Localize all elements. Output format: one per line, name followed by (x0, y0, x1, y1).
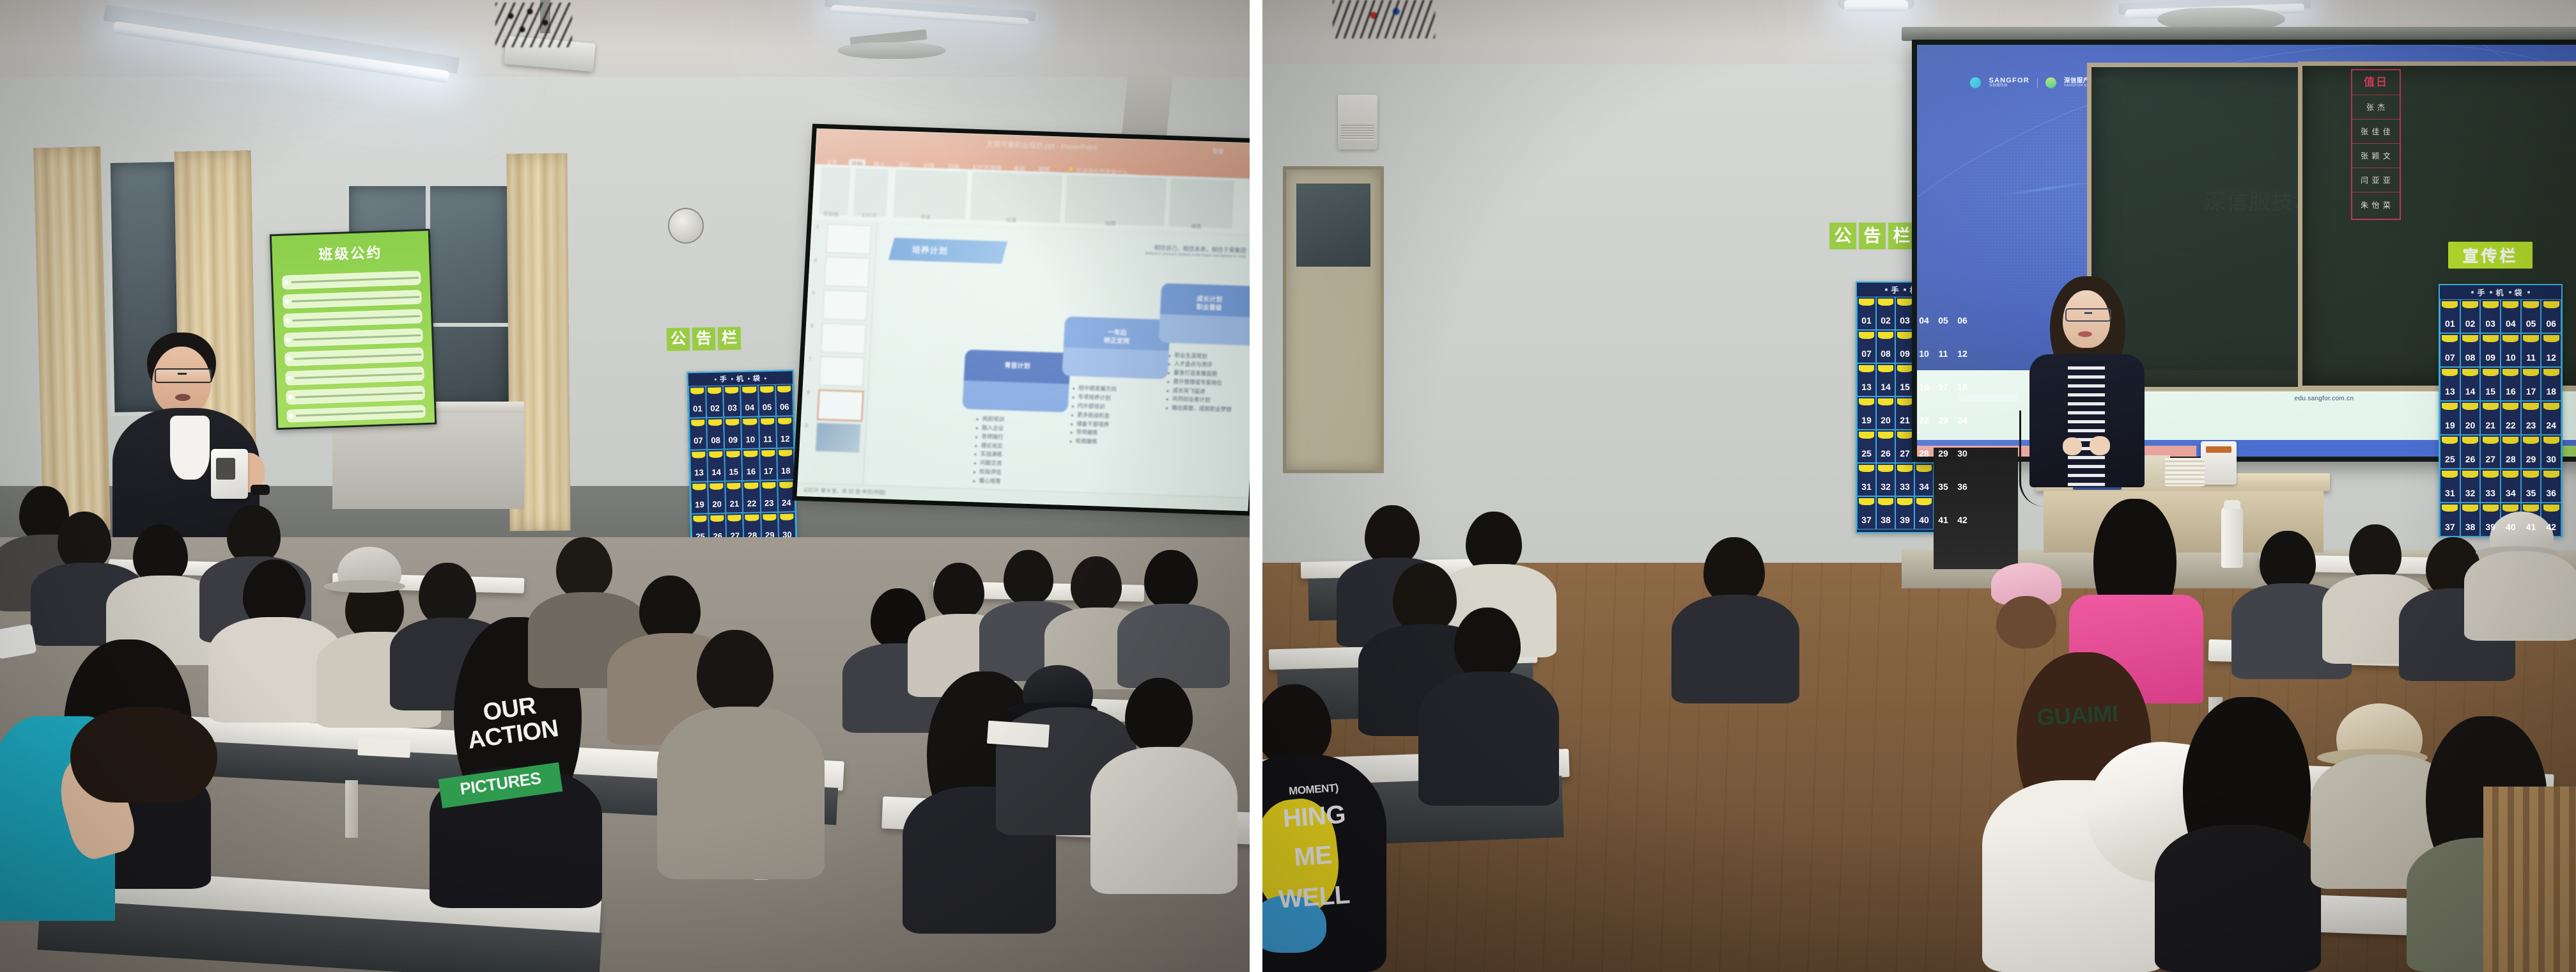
slide-thumbnail-8-selected[interactable] (817, 389, 864, 421)
student-head (1125, 678, 1193, 752)
ppt-statusbar-text: 幻灯片 第 8 张，共 32 张 中文(中国) (803, 487, 886, 496)
pocket-02: 02 (1876, 297, 1895, 330)
pocket-08: 08 (706, 418, 724, 450)
pocket-19: 19 (690, 482, 708, 514)
projector-cables (495, 3, 572, 47)
pocket-34: 34 (1914, 463, 1934, 496)
pocket-05: 05 (758, 384, 776, 417)
convention-line (283, 290, 422, 309)
pocket-20: 20 (2460, 401, 2481, 435)
duty-name-4: 闫 亚 亚 (2352, 168, 2400, 192)
step-2-bullets: 短中期发展方向 专项培养计划 内外部培训 更多挑战机会 储备干部培养 导师磨练 … (1069, 384, 1163, 449)
air-conditioner-icon (1338, 95, 1377, 150)
pocket-06: 06 (2541, 299, 2561, 333)
thumb-number-8: 8 (807, 389, 810, 395)
door-window (1296, 184, 1370, 267)
two-panel-classroom-screenshot: 班级公约 公 告 栏 手机袋 01 02 03 (0, 0, 2576, 972)
pocket-09: 09 (2480, 333, 2501, 367)
slide-thumbnail-4[interactable] (825, 257, 871, 288)
group-label-editing: 编辑 (1191, 223, 1202, 230)
pocket-17: 17 (2521, 367, 2541, 401)
step-2-caption: 一年后转正定岗 (1064, 327, 1170, 347)
thumb-number-5: 5 (812, 290, 816, 296)
slide-corner-note: 相信自己，相信未来，相信于莱集团 Believe in yourself, be… (1095, 242, 1246, 260)
group-label-drawing: 绘图 (1105, 220, 1116, 228)
pocket-21: 21 (2480, 401, 2501, 435)
presenter-female (2023, 276, 2170, 487)
handheld-device-screen (216, 458, 235, 480)
pocket-15: 15 (2480, 367, 2501, 401)
pocket-10: 10 (2501, 333, 2521, 367)
sangfor-brand-text: SANGFOR 深信服科技 (1989, 77, 2029, 88)
ceiling-cables-right (1333, 0, 1435, 38)
pocket-20: 20 (708, 482, 725, 514)
presenter-hand (2090, 436, 2110, 455)
slide-thumbnail-3[interactable] (826, 224, 873, 255)
pocket-18: 18 (777, 448, 795, 480)
slide-watermark: edu.sangfor.com.c (1958, 393, 2019, 402)
pocket-10: 10 (741, 416, 759, 449)
ribbon-group-paragraph[interactable] (970, 172, 1062, 223)
ceiling-fan-icon (837, 42, 946, 59)
cabinet-under-window (332, 413, 524, 509)
bulletin-board-sign-right: 公 告 栏 (1829, 223, 1915, 249)
student-head (1004, 550, 1053, 605)
pocket-02: 02 (2460, 299, 2481, 333)
sign-char: 栏 (718, 327, 741, 350)
pocket-37: 37 (1857, 496, 1876, 529)
phone-pocket-chart-right-b: 手机袋 01 02 03 04 05 06 07 08 09 10 11 12 … (2439, 284, 2563, 537)
pocket-23: 23 (2521, 401, 2541, 435)
pocket-09: 09 (724, 417, 741, 450)
pocket-25: 25 (2440, 435, 2460, 469)
student-body (2464, 551, 2576, 641)
pocket-17: 17 (759, 448, 777, 481)
presenter-hand (2063, 437, 2082, 455)
water-bottle-icon (2221, 506, 2243, 568)
pocket-33: 33 (1895, 463, 1914, 496)
logo-divider (2037, 78, 2038, 88)
pocket-01: 01 (2440, 299, 2460, 333)
pocket-grid: 01 02 03 04 05 06 07 08 09 10 11 12 13 1… (2440, 299, 2561, 536)
slide-canvas[interactable]: 培养计划 相信自己，相信未来，相信于莱集团 Believe in yoursel… (867, 224, 1250, 496)
pocket-31: 31 (2440, 469, 2460, 503)
pocket-28: 28 (2501, 435, 2521, 469)
thumb-number-6: 6 (811, 324, 814, 329)
ribbon-group-drawing[interactable] (1065, 175, 1167, 226)
pocket-07: 07 (1857, 330, 1876, 363)
group-label-slides: 幻灯片 (862, 212, 878, 219)
pocket-13: 13 (690, 450, 708, 482)
ceiling-lamp-right-1-icon (1844, 0, 1908, 12)
thumb-number-7: 7 (809, 357, 812, 363)
pocket-05: 05 (2521, 299, 2541, 333)
pocket-26: 26 (2460, 435, 2481, 469)
sign-char: 公 (1829, 223, 1856, 249)
convention-line (282, 270, 421, 290)
pocket-14: 14 (707, 450, 725, 482)
presenter-undershirt (170, 416, 210, 480)
student-head (58, 512, 111, 570)
presenter-glasses-bridge (178, 373, 187, 375)
pocket-36: 36 (2541, 469, 2561, 503)
ppt-account-label[interactable]: 登录 (1212, 146, 1224, 155)
pocket-06: 06 (775, 384, 793, 416)
notebook-on-desk (987, 721, 1050, 748)
pocket-30: 30 (2541, 435, 2561, 469)
pocket-12: 12 (2541, 333, 2561, 367)
step-1-bullets: 岗前培训 融入企业 导师随行 理论充实 实战演练 问题交流 阶段评估 暖心培育 (973, 414, 1060, 487)
pocket-08: 08 (2460, 333, 2481, 367)
duty-name-2: 张 佳 佳 (2352, 119, 2400, 144)
group-label-paragraph: 段落 (1006, 216, 1017, 224)
pocket-02: 02 (706, 386, 724, 418)
presenter-glasses-icon (155, 368, 212, 383)
ribbon-group-slides[interactable] (853, 168, 889, 217)
left-classroom-photo: 班级公约 公 告 栏 手机袋 01 02 03 (0, 0, 1250, 972)
student-head (227, 505, 281, 564)
presenter-mic-cable (2019, 411, 2044, 506)
wall-speaker (1121, 67, 1173, 142)
duty-roster-box: 值日 张 杰 张 佳 佳 张 颖 文 闫 亚 亚 朱 怡 菜 (2351, 69, 2401, 220)
sign-char: 公 (667, 327, 690, 351)
pocket-18: 18 (2541, 367, 2561, 401)
water-bottle-cap (2224, 500, 2240, 509)
bullet: 输出高管，成就职业梦想 (1166, 404, 1250, 415)
pocket-23: 23 (760, 480, 778, 513)
sign-char: 告 (692, 327, 716, 351)
ribbon-group-font[interactable] (893, 169, 968, 220)
student-body (1090, 747, 1238, 894)
pocket-07: 07 (2440, 333, 2460, 367)
pocket-20: 20 (1876, 396, 1895, 430)
thumb-number-9: 9 (805, 423, 808, 428)
pocket-39: 39 (1895, 496, 1914, 529)
pocket-32: 32 (2460, 469, 2481, 503)
slide-url: edu.sangfor.com.cn (2295, 395, 2354, 402)
projection-screen-left: 无限可能职业规划.ppt - PowerPoint 登录 共享 文件 开始 插入… (797, 129, 1250, 512)
pocket-01: 01 (688, 386, 706, 418)
step-box-3: 成长计划职业晋级 (1158, 283, 1250, 346)
step-3-caption: 成长计划职业晋级 (1160, 294, 1250, 314)
slide-thumbnail-7[interactable] (819, 356, 865, 387)
pocket-19: 19 (2440, 401, 2460, 435)
pocket-16: 16 (742, 448, 760, 481)
pocket-04: 04 (741, 384, 759, 417)
sangfor-education-logo-icon (2045, 77, 2056, 88)
student-head (933, 563, 984, 619)
pocket-24: 24 (2541, 401, 2561, 435)
pocket-13: 13 (1857, 363, 1876, 396)
step-box-2: 一年后转正定岗 (1062, 317, 1170, 380)
desk-speaker-panel (2206, 446, 2231, 453)
pocket-chart-header: 手机袋 (2440, 285, 2561, 299)
ribbon-group-clipboard[interactable] (819, 167, 851, 216)
student-head (697, 630, 773, 713)
class-convention-title: 班级公约 (272, 240, 429, 266)
pocket-21: 21 (725, 481, 743, 513)
pocket-16: 16 (2501, 367, 2521, 401)
pocket-14: 14 (2460, 367, 2481, 401)
pocket-22: 22 (743, 480, 761, 513)
group-label-clipboard: 剪贴板 (823, 210, 839, 218)
student-body (1418, 671, 1559, 806)
student-head (419, 563, 476, 625)
pocket-13: 13 (2440, 367, 2460, 401)
speaker-cabinet (1934, 448, 2018, 569)
pocket-31: 31 (1857, 463, 1876, 496)
convention-line (283, 309, 423, 328)
pocket-38: 38 (2460, 503, 2481, 537)
pocket-34: 34 (2501, 469, 2521, 503)
slide-thumbnail-9[interactable] (816, 423, 862, 453)
pocket-11: 11 (2521, 333, 2541, 367)
pocket-14: 14 (1876, 363, 1895, 396)
pocket-11: 11 (759, 416, 777, 449)
desk-book-stack (2165, 458, 2205, 486)
slide-thumbnail-5[interactable] (823, 290, 869, 320)
pocket-19: 19 (1857, 396, 1876, 430)
student-head (1703, 537, 1765, 604)
student-long-hair-front (70, 707, 217, 803)
presenter-glasses-bridge (2084, 312, 2092, 314)
student-plaid-shirt (2483, 787, 2576, 972)
duty-name-3: 张 颖 文 (2352, 143, 2400, 168)
thumb-number-3: 3 (816, 224, 819, 230)
student-head (1996, 596, 2056, 648)
presenter-mouth (175, 394, 190, 401)
thumb-number-4: 4 (814, 257, 817, 263)
duty-name-5: 朱 怡 菜 (2352, 192, 2400, 218)
pocket-25: 25 (1857, 430, 1876, 463)
pocket-08: 08 (1876, 330, 1895, 363)
student-head (556, 537, 612, 599)
classroom-door (1283, 166, 1384, 473)
step-1-caption: 青苗计划 (965, 360, 1071, 372)
group-label-font: 字体 (920, 214, 931, 221)
pocket-33: 33 (2480, 469, 2501, 503)
student-head (1071, 556, 1122, 613)
duty-title: 值日 (2352, 73, 2400, 89)
pocket-26: 26 (1876, 430, 1895, 463)
right-classroom-photo: 公 告 栏 手机袋 01 02 03 04 05 06 07 08 09 10 … (1262, 0, 2576, 972)
pocket-32: 32 (1876, 463, 1895, 496)
student-head (1393, 563, 1457, 633)
student-head (1365, 505, 1420, 565)
screen-roller-bar (1902, 27, 2576, 41)
pocket-03: 03 (723, 385, 741, 418)
convention-line (286, 405, 426, 423)
student-body (2155, 825, 2321, 972)
duty-name-1: 张 杰 (2352, 95, 2400, 120)
slide-thumbnail-6[interactable] (821, 323, 867, 354)
pocket-22: 22 (2501, 401, 2521, 435)
ribbon-group-editing[interactable] (1168, 179, 1234, 229)
presenter-striped-top (2068, 361, 2105, 487)
presenter-wristband (251, 485, 270, 495)
desk-leg (345, 780, 358, 838)
curtain-left (33, 146, 111, 532)
notebook-on-desk (357, 737, 410, 758)
publicity-board-sign: 宣传栏 (2448, 242, 2533, 269)
sangfor-logo-icon (1970, 77, 1981, 88)
panel-divider (1250, 0, 1262, 972)
bulletin-board-sign-left: 公 告 栏 (667, 327, 741, 351)
brand-cn: 深信服科技 (1989, 84, 2029, 88)
student-head (1144, 550, 1198, 609)
wall-clock-icon (668, 208, 704, 244)
powerpoint-window: 无限可能职业规划.ppt - PowerPoint 登录 共享 文件 开始 插入… (797, 129, 1250, 512)
step-box-1: 青苗计划 (962, 349, 1071, 412)
sign-char: 告 (1859, 223, 1886, 249)
student-head (1454, 607, 1521, 679)
slide-title: 培养计划 (912, 244, 948, 257)
pocket-40: 40 (1914, 496, 1934, 529)
student-head (2349, 524, 2401, 582)
student-head (639, 576, 701, 642)
pocket-03: 03 (2480, 299, 2501, 333)
presenter-mouth (2078, 331, 2092, 337)
slide-title-banner: 培养计划 (888, 238, 1007, 263)
sign-char: 栏 (1888, 223, 1915, 249)
pocket-29: 29 (2521, 435, 2541, 469)
pocket-01: 01 (1857, 297, 1876, 330)
student-body (1672, 595, 1799, 703)
cap-brim (323, 580, 405, 593)
pocket-04: 04 (2501, 299, 2521, 333)
pocket-27: 27 (2480, 435, 2501, 469)
pocket-12: 12 (776, 416, 794, 448)
student-body (1117, 604, 1230, 688)
pocket-35: 35 (2521, 469, 2541, 503)
step-3-bullets: 职业生涯规划 人才盘点与测评 量身打造发展蓝图 晋升管理或专家岗位 成长突飞猛进… (1166, 351, 1250, 416)
presenter-glasses-icon (2065, 308, 2111, 322)
pocket-07: 07 (689, 418, 707, 450)
student-body (657, 707, 825, 879)
pocket-38: 38 (1876, 496, 1895, 529)
ppt-titlebar-text: 无限可能职业规划.ppt - PowerPoint (986, 139, 1097, 153)
pocket-37: 37 (2440, 503, 2460, 537)
pocket-15: 15 (724, 449, 742, 482)
bullet: 暖心培育 (973, 476, 1056, 488)
